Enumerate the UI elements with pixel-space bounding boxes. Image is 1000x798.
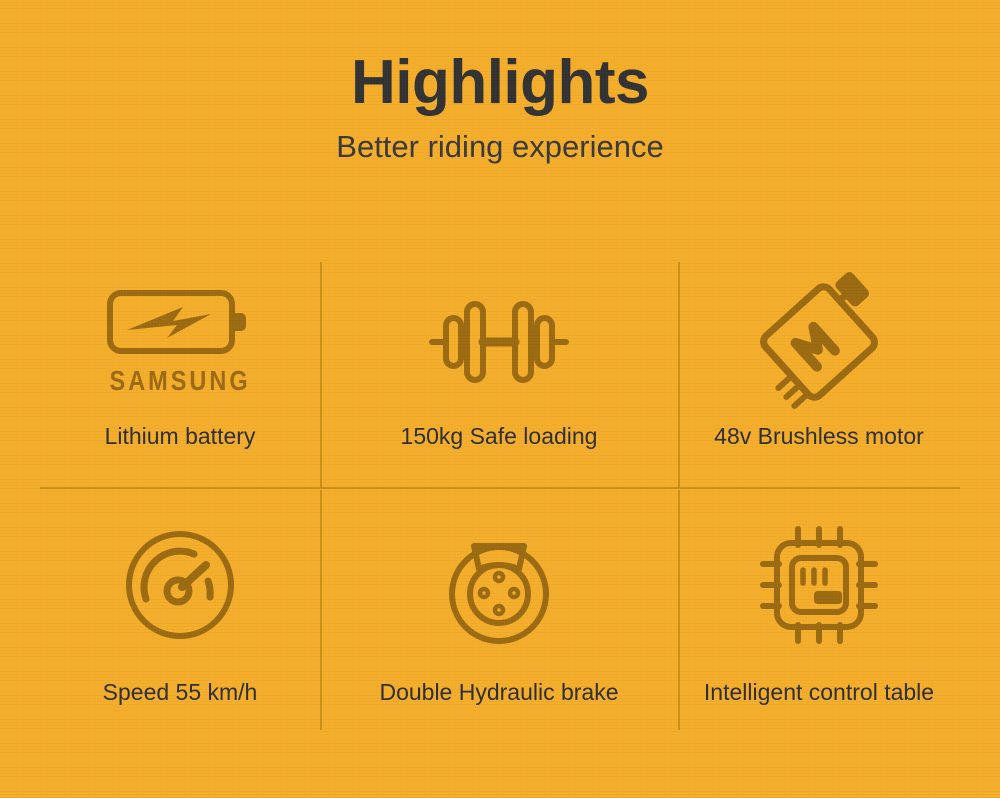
grid-divider-vertical [678,262,680,488]
feature-label: Intelligent control table [704,681,934,730]
grid-divider-vertical [678,490,680,730]
dumbbell-icon [424,294,574,390]
feature-cell-control-table: Intelligent control table [678,488,960,730]
feature-cell-hydraulic-brake: Double Hydraulic brake [320,488,678,730]
feature-cell-brushless-motor: 48v Brushless motor [678,258,960,488]
microchip-icon [757,523,881,647]
feature-label: Speed 55 km/h [103,681,258,730]
page-title: Highlights [0,50,1000,115]
feature-icon-wrap [40,488,320,681]
speedometer-icon [120,525,240,645]
feature-cell-safe-loading: 150kg Safe loading [320,258,678,488]
feature-label: 150kg Safe loading [401,425,598,488]
features-grid: SAMSUNG Lithium battery [40,258,960,730]
brake-disc-icon [436,522,562,648]
battery-icon [105,287,255,359]
feature-cell-lithium-battery: SAMSUNG Lithium battery [40,258,320,488]
feature-icon-wrap: SAMSUNG [40,258,320,425]
grid-divider-vertical [320,262,322,488]
feature-icon-wrap [320,488,678,681]
motor-icon [744,277,894,407]
feature-label: Double Hydraulic brake [379,681,618,730]
feature-icon-wrap [320,258,678,425]
grid-divider-vertical [320,490,322,730]
feature-icon-wrap [678,258,960,425]
feature-label: 48v Brushless motor [714,425,924,488]
highlights-banner: Highlights Better riding experience SAMS… [0,0,1000,798]
page-subtitle: Better riding experience [0,129,1000,165]
feature-label: Lithium battery [105,425,256,488]
samsung-brand-label: SAMSUNG [109,365,250,397]
grid-divider-horizontal [40,487,960,489]
header: Highlights Better riding experience [0,0,1000,165]
feature-icon-wrap [678,488,960,681]
feature-cell-top-speed: Speed 55 km/h [40,488,320,730]
